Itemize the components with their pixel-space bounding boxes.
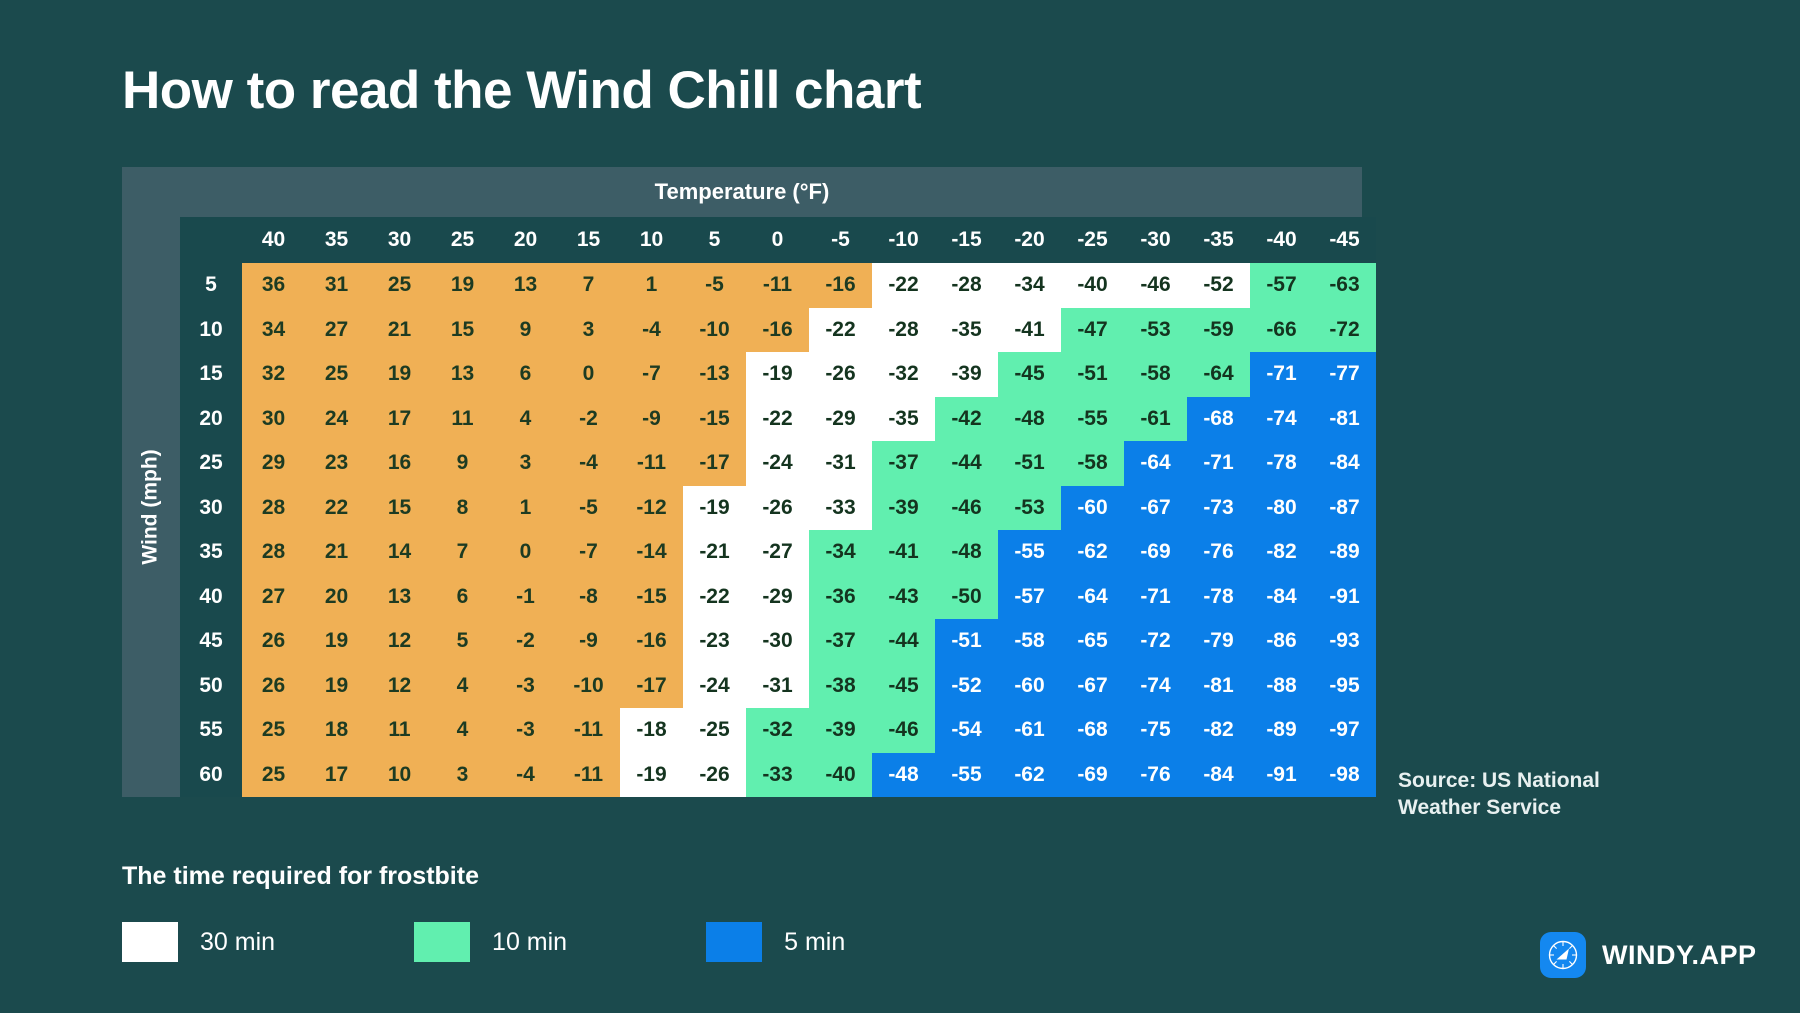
wind-chill-cell: -66 [1250, 308, 1313, 353]
temperature-column-header: 40 [242, 217, 305, 263]
wind-chill-cell: -39 [935, 352, 998, 397]
wind-chill-cell: -35 [935, 308, 998, 353]
wind-chill-cell: 13 [431, 352, 494, 397]
wind-chill-cell: -84 [1187, 753, 1250, 798]
wind-chill-cell: 19 [305, 619, 368, 664]
wind-chill-cell: 25 [368, 263, 431, 308]
wind-chill-cell: -25 [683, 708, 746, 753]
wind-chill-cell: 34 [242, 308, 305, 353]
wind-row-header: 15 [180, 352, 242, 397]
wind-chill-cell: -24 [746, 441, 809, 486]
wind-chill-cell: -16 [620, 619, 683, 664]
wind-chill-cell: -74 [1250, 397, 1313, 442]
wind-chill-cell: -58 [998, 619, 1061, 664]
wind-chill-cell: -46 [1124, 263, 1187, 308]
wind-chill-cell: 31 [305, 263, 368, 308]
wind-chill-table: 4035302520151050-5-10-15-20-25-30-35-40-… [180, 217, 1376, 797]
wind-chill-cell: -34 [809, 530, 872, 575]
legend-swatch [706, 922, 762, 962]
wind-chill-cell: 18 [305, 708, 368, 753]
wind-chill-cell: -4 [557, 441, 620, 486]
wind-chill-cell: -95 [1313, 664, 1376, 709]
wind-chill-cell: -72 [1313, 308, 1376, 353]
wind-chill-cell: -79 [1187, 619, 1250, 664]
wind-chill-cell: -24 [683, 664, 746, 709]
wind-chill-cell: -43 [872, 575, 935, 620]
wind-chill-cell: -5 [683, 263, 746, 308]
wind-chill-cell: 19 [368, 352, 431, 397]
wind-chill-cell: -58 [1124, 352, 1187, 397]
wind-chill-cell: 15 [368, 486, 431, 531]
wind-chill-cell: -82 [1250, 530, 1313, 575]
wind-row-header: 25 [180, 441, 242, 486]
temperature-column-header: -45 [1313, 217, 1376, 263]
wind-chill-cell: 17 [305, 753, 368, 798]
wind-chill-cell: -98 [1313, 753, 1376, 798]
wind-chill-cell: -54 [935, 708, 998, 753]
compass-icon [1540, 932, 1586, 978]
wind-chill-cell: 25 [305, 352, 368, 397]
wind-chill-cell: -46 [872, 708, 935, 753]
wind-chill-cell: -50 [935, 575, 998, 620]
wind-chill-cell: -19 [746, 352, 809, 397]
wind-chill-cell: -17 [683, 441, 746, 486]
wind-row-header: 60 [180, 753, 242, 798]
wind-chill-cell: -52 [1187, 263, 1250, 308]
wind-chill-cell: -67 [1124, 486, 1187, 531]
temperature-column-header: 0 [746, 217, 809, 263]
wind-chill-cell: -80 [1250, 486, 1313, 531]
wind-chill-cell: 1 [620, 263, 683, 308]
table-row: 3028221581-5-12-19-26-33-39-46-53-60-67-… [180, 486, 1376, 531]
wind-chill-cell: -3 [494, 664, 557, 709]
wind-chill-cell: -16 [809, 263, 872, 308]
wind-chill-cell: -74 [1124, 664, 1187, 709]
wind-chill-cell: -33 [746, 753, 809, 798]
brand-name: WINDY.APP [1602, 940, 1757, 971]
wind-chill-cell: -55 [998, 530, 1061, 575]
legend-label: 5 min [784, 928, 845, 957]
wind-chill-cell: -4 [494, 753, 557, 798]
wind-chill-cell: -22 [872, 263, 935, 308]
wind-chill-cell: -81 [1187, 664, 1250, 709]
wind-chill-cell: 4 [431, 664, 494, 709]
wind-chill-cell: 32 [242, 352, 305, 397]
wind-chill-cell: -61 [998, 708, 1061, 753]
wind-chill-cell: -16 [746, 308, 809, 353]
table-row: 602517103-4-11-19-26-33-40-48-55-62-69-7… [180, 753, 1376, 798]
wind-chill-cell: -4 [620, 308, 683, 353]
wind-chill-cell: -75 [1124, 708, 1187, 753]
wind-chill-cell: 3 [431, 753, 494, 798]
wind-chill-cell: -11 [620, 441, 683, 486]
table-row: 502619124-3-10-17-24-31-38-45-52-60-67-7… [180, 664, 1376, 709]
legend-swatch [122, 922, 178, 962]
wind-chill-cell: 1 [494, 486, 557, 531]
wind-chill-cell: -15 [683, 397, 746, 442]
wind-chill-cell: -81 [1313, 397, 1376, 442]
wind-chill-cell: -51 [935, 619, 998, 664]
wind-chill-cell: -11 [557, 753, 620, 798]
table-row: 3528211470-7-14-21-27-34-41-48-55-62-69-… [180, 530, 1376, 575]
wind-axis-title-bar: Wind (mph) [122, 217, 180, 797]
wind-chill-cell: -89 [1250, 708, 1313, 753]
wind-chill-cell: -76 [1124, 753, 1187, 798]
wind-chill-cell: -36 [809, 575, 872, 620]
table-row: 402720136-1-8-15-22-29-36-43-50-57-64-71… [180, 575, 1376, 620]
wind-chill-cell: 12 [368, 664, 431, 709]
wind-chill-cell: -60 [1061, 486, 1124, 531]
wind-axis-title: Wind (mph) [139, 449, 163, 564]
wind-chill-infographic: How to read the Wind Chill chart Tempera… [0, 0, 1800, 1013]
wind-chill-cell: -37 [872, 441, 935, 486]
wind-chill-cell: -18 [620, 708, 683, 753]
wind-chill-cell: -65 [1061, 619, 1124, 664]
wind-chill-cell: -91 [1250, 753, 1313, 798]
wind-chill-cell: -29 [809, 397, 872, 442]
wind-chill-cell: -22 [809, 308, 872, 353]
table-row: 153225191360-7-13-19-26-32-39-45-51-58-6… [180, 352, 1376, 397]
wind-chill-cell: 26 [242, 664, 305, 709]
wind-chill-cell: -71 [1124, 575, 1187, 620]
wind-chill-cell: -63 [1313, 263, 1376, 308]
table-row: 103427211593-4-10-16-22-28-35-41-47-53-5… [180, 308, 1376, 353]
wind-chill-cell: -19 [620, 753, 683, 798]
table-row: 20302417114-2-9-15-22-29-35-42-48-55-61-… [180, 397, 1376, 442]
wind-chill-cell: -44 [872, 619, 935, 664]
wind-chill-cell: -22 [683, 575, 746, 620]
wind-chill-cell: -7 [620, 352, 683, 397]
table-corner-cell [180, 217, 242, 263]
temperature-column-header: -30 [1124, 217, 1187, 263]
wind-chill-cell: -23 [683, 619, 746, 664]
wind-chill-cell: 0 [557, 352, 620, 397]
table-header-row: 4035302520151050-5-10-15-20-25-30-35-40-… [180, 217, 1376, 263]
wind-chill-cell: 27 [305, 308, 368, 353]
wind-chill-cell: -88 [1250, 664, 1313, 709]
wind-chill-cell: -12 [620, 486, 683, 531]
wind-chill-cell: -58 [1061, 441, 1124, 486]
wind-chill-cell: 14 [368, 530, 431, 575]
temperature-column-header: -5 [809, 217, 872, 263]
wind-chill-cell: 16 [368, 441, 431, 486]
wind-chill-cell: -71 [1187, 441, 1250, 486]
wind-chill-cell: -2 [494, 619, 557, 664]
wind-chill-cell: 20 [305, 575, 368, 620]
wind-chill-cell: 28 [242, 530, 305, 575]
wind-chill-cell: -57 [998, 575, 1061, 620]
wind-chill-cell: -84 [1313, 441, 1376, 486]
temperature-column-header: 10 [620, 217, 683, 263]
wind-chill-cell: -45 [998, 352, 1061, 397]
wind-chill-cell: 7 [557, 263, 620, 308]
wind-chill-cell: -17 [620, 664, 683, 709]
wind-chill-cell: -48 [998, 397, 1061, 442]
wind-chill-cell: -9 [557, 619, 620, 664]
wind-chill-cell: -53 [998, 486, 1061, 531]
wind-chill-cell: -37 [809, 619, 872, 664]
wind-chill-cell: -13 [683, 352, 746, 397]
wind-chill-cell: -30 [746, 619, 809, 664]
wind-chill-cell: -27 [746, 530, 809, 575]
table-row: 2529231693-4-11-17-24-31-37-44-51-58-64-… [180, 441, 1376, 486]
wind-chill-cell: -47 [1061, 308, 1124, 353]
wind-chill-cell: -59 [1187, 308, 1250, 353]
wind-chill-cell: -40 [809, 753, 872, 798]
wind-chill-cell: -87 [1313, 486, 1376, 531]
wind-chill-cell: 6 [494, 352, 557, 397]
wind-chill-cell: -7 [557, 530, 620, 575]
wind-chill-cell: -42 [935, 397, 998, 442]
temperature-axis-title-bar: Temperature (°F) [122, 167, 1362, 217]
wind-row-header: 20 [180, 397, 242, 442]
wind-chill-cell: 26 [242, 619, 305, 664]
wind-chill-cell: 25 [242, 708, 305, 753]
wind-chill-cell: -55 [935, 753, 998, 798]
wind-row-header: 5 [180, 263, 242, 308]
wind-chill-cell: -32 [872, 352, 935, 397]
wind-chill-cell: 10 [368, 753, 431, 798]
wind-chill-cell: 24 [305, 397, 368, 442]
wind-chill-cell: 3 [494, 441, 557, 486]
wind-chill-cell: -41 [872, 530, 935, 575]
wind-chill-cell: 23 [305, 441, 368, 486]
wind-chill-cell: 17 [368, 397, 431, 442]
wind-chill-cell: -38 [809, 664, 872, 709]
wind-chill-cell: -34 [998, 263, 1061, 308]
wind-chill-cell: 5 [431, 619, 494, 664]
wind-chill-cell: 11 [431, 397, 494, 442]
wind-chill-cell: -55 [1061, 397, 1124, 442]
wind-chill-cell: -69 [1061, 753, 1124, 798]
wind-chill-cell: 21 [368, 308, 431, 353]
wind-chill-cell: -84 [1250, 575, 1313, 620]
wind-chill-cell: 27 [242, 575, 305, 620]
temperature-column-header: 5 [683, 217, 746, 263]
wind-chill-cell: -46 [935, 486, 998, 531]
wind-chill-cell: -2 [557, 397, 620, 442]
wind-chill-cell: 4 [431, 708, 494, 753]
wind-chill-cell: -26 [809, 352, 872, 397]
wind-row-header: 55 [180, 708, 242, 753]
temperature-column-header: 30 [368, 217, 431, 263]
wind-chill-cell: -48 [935, 530, 998, 575]
legend-item: 5 min [706, 922, 845, 962]
wind-chill-cell: -39 [809, 708, 872, 753]
wind-chill-cell: -93 [1313, 619, 1376, 664]
wind-chill-chart: Temperature (°F) Wind (mph) 403530252015… [122, 167, 1376, 797]
temperature-column-header: -40 [1250, 217, 1313, 263]
source-note: Source: US National Weather Service [1398, 768, 1658, 821]
legend-swatch [414, 922, 470, 962]
wind-chill-cell: 28 [242, 486, 305, 531]
wind-chill-cell: 30 [242, 397, 305, 442]
wind-chill-cell: -72 [1124, 619, 1187, 664]
wind-chill-cell: -31 [809, 441, 872, 486]
wind-chill-cell: -21 [683, 530, 746, 575]
wind-chill-cell: 21 [305, 530, 368, 575]
wind-chill-cell: -68 [1187, 397, 1250, 442]
legend-item: 30 min [122, 922, 275, 962]
wind-row-header: 40 [180, 575, 242, 620]
temperature-column-header: 35 [305, 217, 368, 263]
wind-chill-cell: -28 [872, 308, 935, 353]
temperature-column-header: 20 [494, 217, 557, 263]
temperature-column-header: -10 [872, 217, 935, 263]
wind-chill-cell: -51 [998, 441, 1061, 486]
wind-chill-cell: -9 [620, 397, 683, 442]
wind-chill-cell: -5 [557, 486, 620, 531]
wind-chill-cell: 22 [305, 486, 368, 531]
wind-chill-cell: -68 [1061, 708, 1124, 753]
wind-chill-cell: -64 [1124, 441, 1187, 486]
wind-chill-cell: -40 [1061, 263, 1124, 308]
wind-chill-cell: -26 [746, 486, 809, 531]
wind-chill-cell: -61 [1124, 397, 1187, 442]
wind-row-header: 35 [180, 530, 242, 575]
wind-chill-cell: -45 [872, 664, 935, 709]
wind-chill-cell: -76 [1187, 530, 1250, 575]
table-row: 552518114-3-11-18-25-32-39-46-54-61-68-7… [180, 708, 1376, 753]
wind-chill-cell: 7 [431, 530, 494, 575]
legend: 30 min10 min5 min [122, 922, 984, 962]
wind-chill-cell: -77 [1313, 352, 1376, 397]
wind-chill-cell: 36 [242, 263, 305, 308]
wind-chill-cell: -67 [1061, 664, 1124, 709]
brand-logo[interactable]: WINDY.APP [1540, 932, 1757, 978]
wind-chill-cell: -51 [1061, 352, 1124, 397]
wind-chill-cell: 13 [368, 575, 431, 620]
table-row: 5363125191371-5-11-16-22-28-34-40-46-52-… [180, 263, 1376, 308]
wind-chill-cell: 4 [494, 397, 557, 442]
temperature-column-header: -20 [998, 217, 1061, 263]
wind-chill-cell: -52 [935, 664, 998, 709]
wind-chill-cell: -39 [872, 486, 935, 531]
wind-chill-cell: 3 [557, 308, 620, 353]
legend-label: 30 min [200, 928, 275, 957]
temperature-column-header: 25 [431, 217, 494, 263]
wind-chill-cell: -78 [1187, 575, 1250, 620]
wind-row-header: 30 [180, 486, 242, 531]
wind-chill-cell: -19 [683, 486, 746, 531]
wind-chill-cell: -26 [683, 753, 746, 798]
wind-chill-cell: -10 [683, 308, 746, 353]
wind-chill-cell: -29 [746, 575, 809, 620]
wind-chill-cell: 12 [368, 619, 431, 664]
wind-chill-cell: -10 [557, 664, 620, 709]
wind-chill-cell: -64 [1187, 352, 1250, 397]
temperature-column-header: -35 [1187, 217, 1250, 263]
wind-chill-cell: 8 [431, 486, 494, 531]
wind-chill-cell: -86 [1250, 619, 1313, 664]
wind-chill-cell: 0 [494, 530, 557, 575]
page-title: How to read the Wind Chill chart [122, 60, 921, 121]
table-body: 5363125191371-5-11-16-22-28-34-40-46-52-… [180, 263, 1376, 797]
wind-chill-cell: 13 [494, 263, 557, 308]
wind-chill-cell: -69 [1124, 530, 1187, 575]
wind-chill-cell: 29 [242, 441, 305, 486]
wind-chill-cell: -22 [746, 397, 809, 442]
legend-label: 10 min [492, 928, 567, 957]
temperature-column-header: 15 [557, 217, 620, 263]
wind-chill-cell: -3 [494, 708, 557, 753]
wind-chill-cell: -89 [1313, 530, 1376, 575]
wind-chill-cell: -8 [557, 575, 620, 620]
wind-chill-cell: 9 [494, 308, 557, 353]
wind-chill-cell: -33 [809, 486, 872, 531]
wind-chill-cell: -78 [1250, 441, 1313, 486]
wind-chill-cell: 15 [431, 308, 494, 353]
wind-chill-cell: -48 [872, 753, 935, 798]
wind-chill-cell: -60 [998, 664, 1061, 709]
chart-grid: 4035302520151050-5-10-15-20-25-30-35-40-… [180, 217, 1376, 797]
wind-row-header: 50 [180, 664, 242, 709]
wind-chill-cell: -62 [998, 753, 1061, 798]
wind-chill-cell: 6 [431, 575, 494, 620]
temperature-axis-title: Temperature (°F) [655, 179, 830, 205]
wind-chill-cell: -91 [1313, 575, 1376, 620]
wind-chill-cell: -53 [1124, 308, 1187, 353]
wind-chill-cell: -32 [746, 708, 809, 753]
wind-chill-cell: -71 [1250, 352, 1313, 397]
wind-chill-cell: -31 [746, 664, 809, 709]
wind-chill-cell: -35 [872, 397, 935, 442]
wind-chill-cell: -14 [620, 530, 683, 575]
wind-chill-cell: -64 [1061, 575, 1124, 620]
temperature-column-header: -25 [1061, 217, 1124, 263]
wind-chill-cell: -11 [557, 708, 620, 753]
wind-chill-cell: -11 [746, 263, 809, 308]
wind-chill-cell: -1 [494, 575, 557, 620]
wind-chill-cell: 19 [305, 664, 368, 709]
wind-chill-cell: -62 [1061, 530, 1124, 575]
temperature-column-header: -15 [935, 217, 998, 263]
wind-chill-cell: 19 [431, 263, 494, 308]
wind-chill-cell: -28 [935, 263, 998, 308]
legend-title: The time required for frostbite [122, 862, 479, 891]
wind-chill-cell: -15 [620, 575, 683, 620]
wind-chill-cell: 11 [368, 708, 431, 753]
wind-chill-cell: -97 [1313, 708, 1376, 753]
wind-chill-cell: -44 [935, 441, 998, 486]
wind-row-header: 10 [180, 308, 242, 353]
wind-row-header: 45 [180, 619, 242, 664]
wind-chill-cell: -82 [1187, 708, 1250, 753]
wind-chill-cell: 9 [431, 441, 494, 486]
wind-chill-cell: 25 [242, 753, 305, 798]
table-row: 452619125-2-9-16-23-30-37-44-51-58-65-72… [180, 619, 1376, 664]
legend-item: 10 min [414, 922, 567, 962]
wind-chill-cell: -41 [998, 308, 1061, 353]
wind-chill-cell: -73 [1187, 486, 1250, 531]
wind-chill-cell: -57 [1250, 263, 1313, 308]
